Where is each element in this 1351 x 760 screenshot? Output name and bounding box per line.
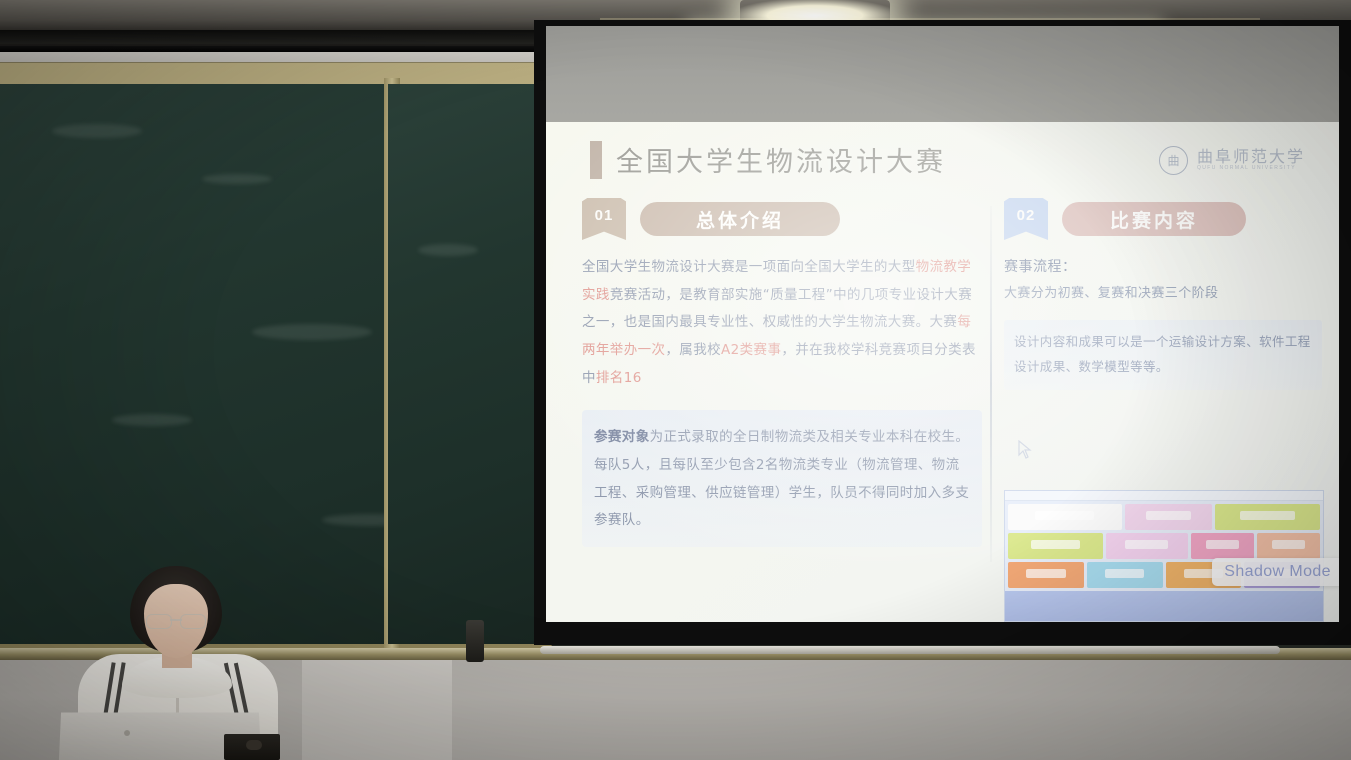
section-02-number: 02 bbox=[1017, 207, 1036, 231]
university-logo: 曲 曲阜师范大学 QUFU NORMAL UNIVERSITY bbox=[1159, 146, 1305, 175]
mouse-cursor-icon bbox=[1018, 440, 1034, 460]
competition-website-screenshot bbox=[1004, 490, 1324, 622]
section-02-heading: 比赛内容 bbox=[1062, 202, 1246, 236]
text-run: A2类赛事 bbox=[721, 342, 781, 358]
wall-panel bbox=[302, 660, 452, 760]
text-run: 排名16 bbox=[596, 370, 642, 386]
university-name-en: QUFU NORMAL UNIVERSITY bbox=[1197, 166, 1305, 171]
section-02: 02 比赛内容 赛事流程： 大赛分为初赛、复赛和决赛三个阶段 设计内容和成果可以… bbox=[1004, 198, 1322, 390]
section-number-ribbon-icon: 01 bbox=[582, 198, 626, 240]
screen-pull-rod bbox=[540, 646, 1280, 654]
presenter-glasses-icon bbox=[146, 614, 206, 627]
section-01-header: 01 总体介绍 bbox=[582, 198, 982, 240]
page-title: 全国大学生物流设计大赛 bbox=[616, 140, 946, 179]
text-run: 竞赛活动，是教育部实施“质量工程”中的几项专业设计大赛之一，也是国内最具专业性、… bbox=[582, 287, 972, 331]
shadow-mode-badge[interactable]: Shadow Mode bbox=[1212, 558, 1339, 586]
mouse-device bbox=[246, 740, 262, 750]
website-topbar bbox=[1005, 491, 1323, 501]
section-01-paragraph-1: 全国大学生物流设计大赛是一项面向全国大学生的大型物流教学实践竞赛活动，是教育部实… bbox=[582, 254, 982, 392]
university-seal-icon: 曲 bbox=[1159, 146, 1188, 175]
university-name-cn: 曲阜师范大学 bbox=[1197, 149, 1305, 166]
text-run: 参赛对象 bbox=[594, 429, 650, 445]
process-text: 大赛分为初赛、复赛和决赛三个阶段 bbox=[1004, 280, 1322, 306]
title-accent-bar bbox=[590, 141, 602, 179]
university-name-block: 曲阜师范大学 QUFU NORMAL UNIVERSITY bbox=[1197, 149, 1305, 171]
university-seal-glyph: 曲 bbox=[1167, 152, 1179, 169]
text-run: 为正式录取的全日制物流类及相关专业本科在校生。每队5人，且每队至少包含2名物流类… bbox=[594, 429, 969, 528]
section-01-heading: 总体介绍 bbox=[640, 202, 840, 236]
slide-title-row: 全国大学生物流设计大赛 bbox=[590, 140, 946, 179]
website-hero-row bbox=[1005, 501, 1323, 533]
presentation-slide[interactable]: 全国大学生物流设计大赛 曲 曲阜师范大学 QUFU NORMAL UNIVERS… bbox=[546, 122, 1339, 622]
section-01: 01 总体介绍 全国大学生物流设计大赛是一项面向全国大学生的大型物流教学实践竞赛… bbox=[582, 198, 982, 547]
podium-knob bbox=[124, 730, 130, 736]
process-label: 赛事流程： bbox=[1004, 252, 1322, 280]
projection-screen-top-band bbox=[546, 26, 1339, 126]
section-01-panel: 参赛对象为正式录取的全日制物流类及相关专业本科在校生。每队5人，且每队至少包含2… bbox=[582, 410, 982, 547]
classroom-scene: 全国大学生物流设计大赛 曲 曲阜师范大学 QUFU NORMAL UNIVERS… bbox=[0, 0, 1351, 760]
section-02-body-text: 设计内容和成果可以是一个运输设计方案、软件工程设计成果、数学模型等等。 bbox=[1004, 320, 1322, 390]
text-run: 全国大学生物流设计大赛是一项面向全国大学生的大型 bbox=[582, 259, 916, 275]
board-clip bbox=[466, 620, 484, 662]
section-02-header: 02 比赛内容 bbox=[1004, 198, 1322, 240]
column-divider bbox=[990, 206, 992, 562]
blackboard-right bbox=[388, 84, 548, 644]
text-run: ，属我校 bbox=[665, 342, 721, 358]
section-number-ribbon-icon: 02 bbox=[1004, 198, 1048, 240]
section-01-number: 01 bbox=[595, 207, 614, 231]
section-01-paragraph-2: 参赛对象为正式录取的全日制物流类及相关专业本科在校生。每队5人，且每队至少包含2… bbox=[594, 424, 970, 535]
website-footer bbox=[1005, 591, 1323, 622]
